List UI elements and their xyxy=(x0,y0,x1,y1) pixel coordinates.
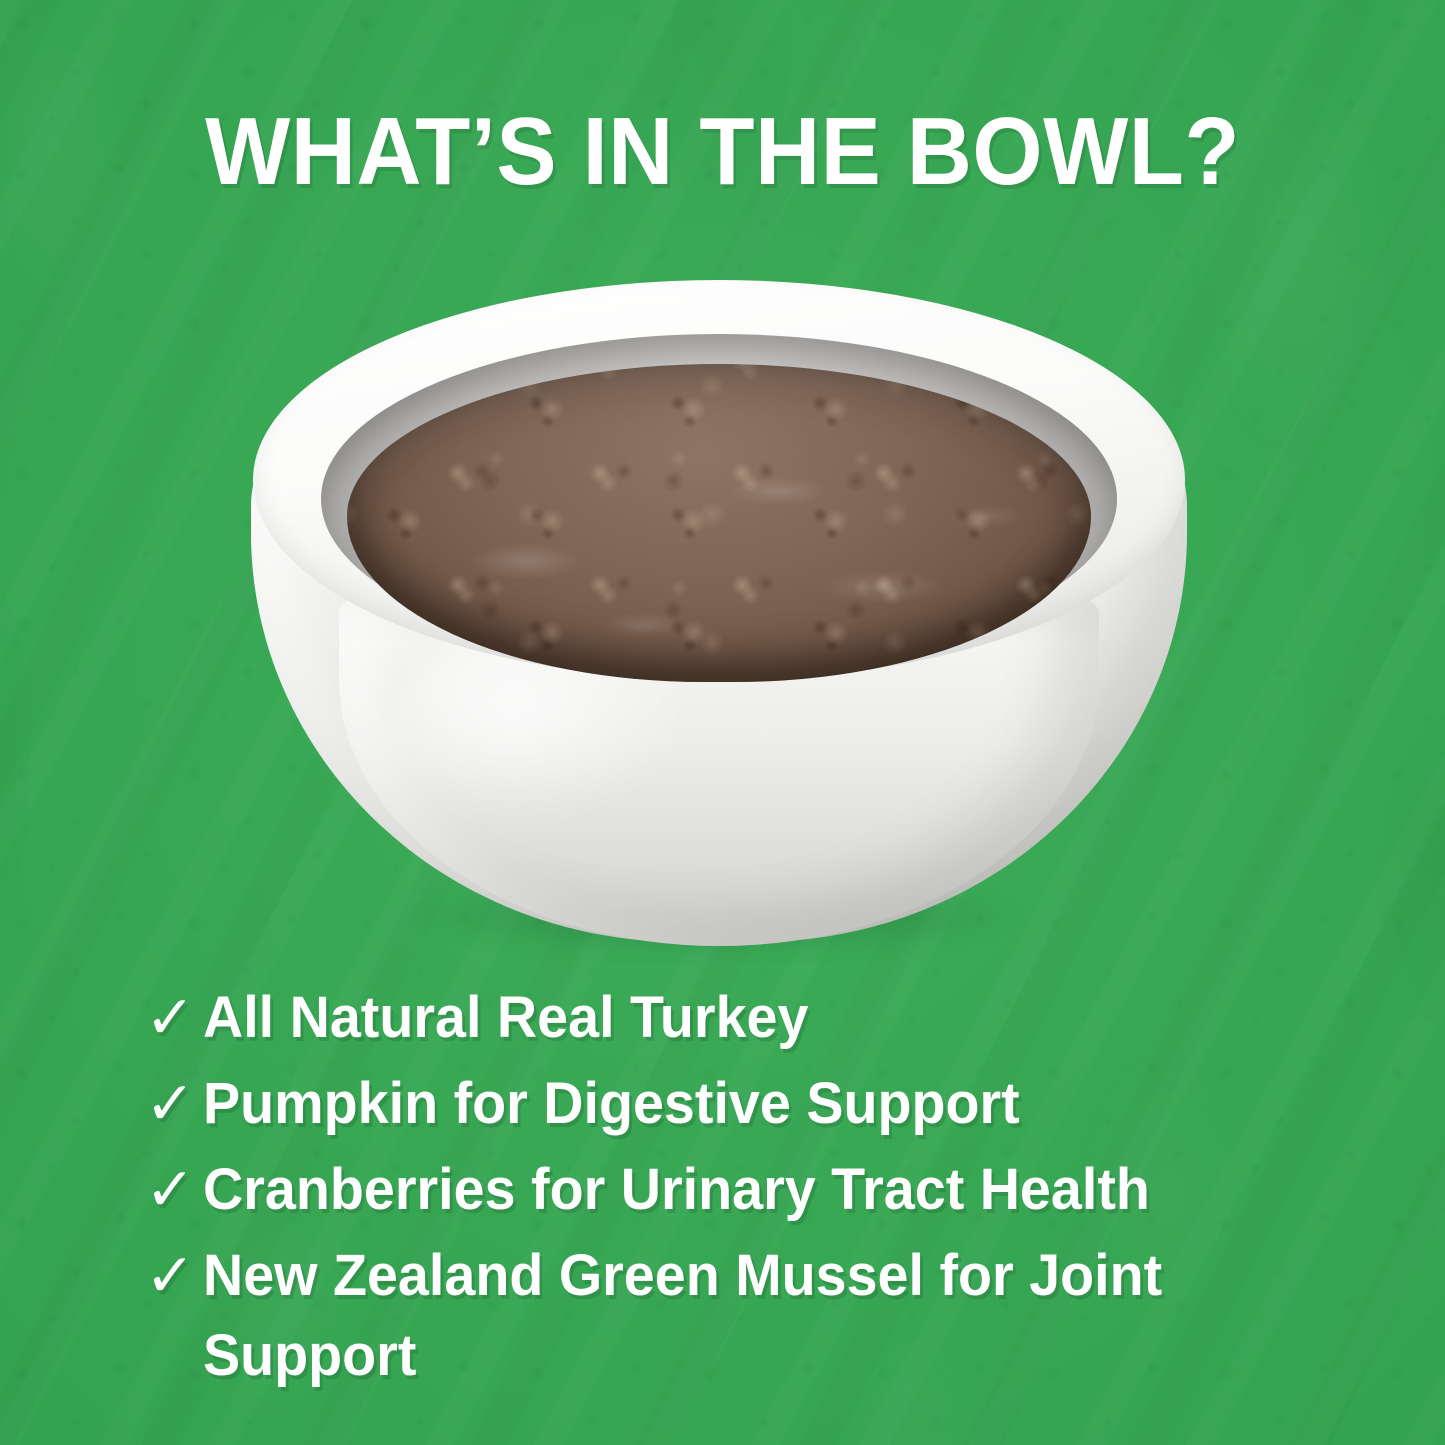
list-item: ✓ Pumpkin for Digestive Support xyxy=(145,1064,1405,1144)
list-item: ✓ All Natural Real Turkey xyxy=(145,978,1405,1058)
list-item-label: Pumpkin for Digestive Support xyxy=(203,1064,1357,1144)
check-icon: ✓ xyxy=(145,978,203,1058)
food-edge-shading xyxy=(347,364,1091,682)
check-icon: ✓ xyxy=(145,1236,203,1316)
list-item: ✓ New Zealand Green Mussel for Joint Sup… xyxy=(145,1236,1405,1396)
benefits-list: ✓ All Natural Real Turkey ✓ Pumpkin for … xyxy=(145,978,1405,1402)
list-item-label: New Zealand Green Mussel for Joint Suppo… xyxy=(203,1236,1357,1396)
check-icon: ✓ xyxy=(145,1150,203,1230)
check-icon: ✓ xyxy=(145,1064,203,1144)
list-item-label: Cranberries for Urinary Tract Health xyxy=(203,1150,1357,1230)
page-title: WHAT’S IN THE BOWL? xyxy=(43,104,1401,200)
list-item-label: All Natural Real Turkey xyxy=(203,978,1357,1058)
poster-canvas: WHAT’S IN THE BOWL? ✓ All Natural Real T… xyxy=(0,0,1445,1445)
product-bowl-image xyxy=(243,276,1193,952)
list-item: ✓ Cranberries for Urinary Tract Health xyxy=(145,1150,1405,1230)
pet-food-mound xyxy=(347,364,1091,682)
